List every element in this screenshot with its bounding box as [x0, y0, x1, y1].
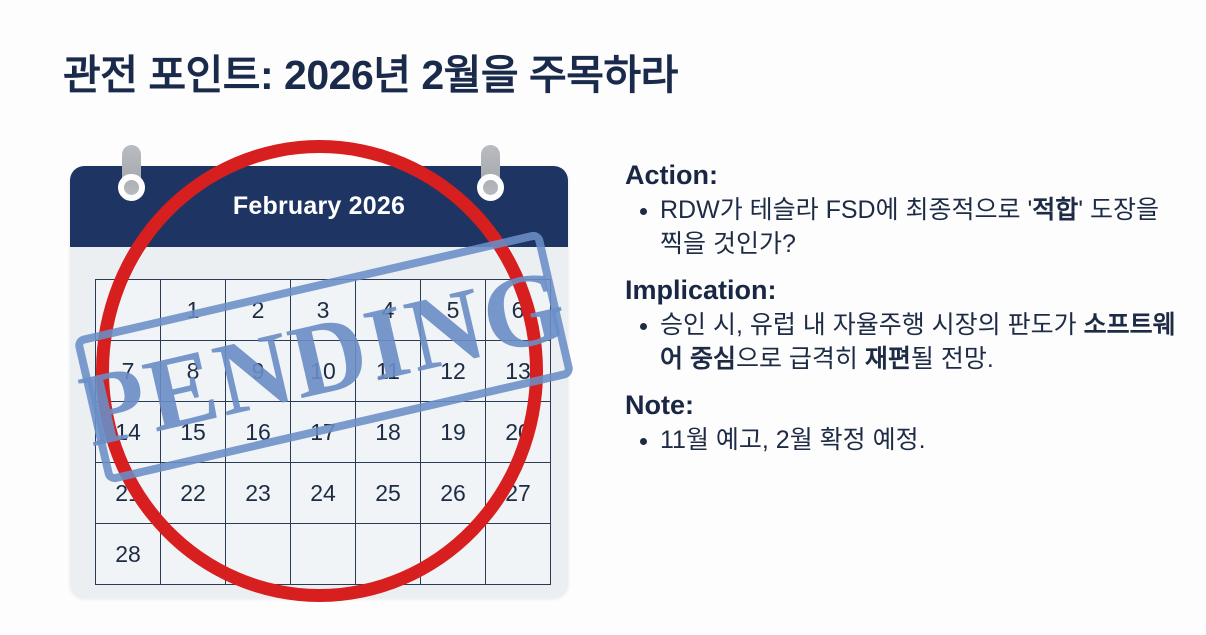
- calendar-day-cell[interactable]: 6: [486, 280, 551, 341]
- emphasised-text: 적합: [1032, 196, 1078, 224]
- calendar-day-cell[interactable]: 17: [291, 402, 356, 463]
- calendar-day-cell[interactable]: 18: [356, 402, 421, 463]
- calendar-empty-cell: [291, 524, 356, 585]
- calendar-day-cell[interactable]: 10: [291, 341, 356, 402]
- calendar-day-cell[interactable]: 2: [226, 280, 291, 341]
- calendar-day-cell[interactable]: 20: [486, 402, 551, 463]
- calendar-month-label: February 2026: [233, 192, 405, 221]
- calendar-day-cell[interactable]: 23: [226, 463, 291, 524]
- content-block-heading: Implication:: [625, 275, 1185, 306]
- content-bullet-item: 승인 시, 유럽 내 자율주행 시장의 판도가 소프트웨어 중심으로 급격히 재…: [658, 309, 1185, 376]
- content-block: Implication:승인 시, 유럽 내 자율주행 시장의 판도가 소프트웨…: [625, 275, 1185, 376]
- calendar-day-cell[interactable]: 11: [356, 341, 421, 402]
- calendar-day-cell[interactable]: 5: [421, 280, 486, 341]
- calendar-empty-cell: [421, 524, 486, 585]
- calendar-day-cell[interactable]: 26: [421, 463, 486, 524]
- binder-hole-right-icon: [477, 174, 504, 201]
- calendar-week-row: 28: [96, 524, 551, 585]
- content-block: Note:11월 예고, 2월 확정 예정.: [625, 390, 1185, 458]
- content-bullet-list: 11월 예고, 2월 확정 예정.: [625, 424, 1185, 458]
- calendar-week-row: 21222324252627: [96, 463, 551, 524]
- page-title: 관전 포인트: 2026년 2월을 주목하라: [63, 41, 678, 101]
- content-block-heading: Action:: [625, 160, 1185, 191]
- calendar-week-row: 123456: [96, 280, 551, 341]
- calendar-day-cell[interactable]: 14: [96, 402, 161, 463]
- bullet-text: 승인 시, 유럽 내 자율주행 시장의 판도가: [660, 311, 1084, 339]
- calendar-day-cell[interactable]: 13: [486, 341, 551, 402]
- calendar-empty-cell: [96, 280, 161, 341]
- calendar-empty-cell: [486, 524, 551, 585]
- bullet-text: 될 전망.: [911, 345, 994, 373]
- calendar-card: February 2026 12345678910111213141516171…: [70, 166, 568, 598]
- calendar-day-cell[interactable]: 4: [356, 280, 421, 341]
- content-column: Action:RDW가 테슬라 FSD에 최종적으로 '적합' 도장을 찍을 것…: [625, 160, 1185, 472]
- calendar-day-cell[interactable]: 19: [421, 402, 486, 463]
- calendar-empty-cell: [161, 524, 226, 585]
- calendar-day-cell[interactable]: 15: [161, 402, 226, 463]
- content-block-heading: Note:: [625, 390, 1185, 421]
- calendar-day-cell[interactable]: 21: [96, 463, 161, 524]
- content-bullet-list: RDW가 테슬라 FSD에 최종적으로 '적합' 도장을 찍을 것인가?: [625, 194, 1185, 261]
- calendar-day-cell[interactable]: 24: [291, 463, 356, 524]
- binder-hole-left-icon: [118, 174, 145, 201]
- calendar-graphic: February 2026 12345678910111213141516171…: [70, 152, 568, 598]
- calendar-day-cell[interactable]: 3: [291, 280, 356, 341]
- calendar-day-cell[interactable]: 9: [226, 341, 291, 402]
- bullet-text: 으로 급격히: [736, 345, 865, 373]
- calendar-week-row: 14151617181920: [96, 402, 551, 463]
- content-block: Action:RDW가 테슬라 FSD에 최종적으로 '적합' 도장을 찍을 것…: [625, 160, 1185, 261]
- calendar-day-cell[interactable]: 22: [161, 463, 226, 524]
- calendar-day-cell[interactable]: 27: [486, 463, 551, 524]
- bullet-text: RDW가 테슬라 FSD에 최종적으로 ': [660, 196, 1032, 224]
- calendar-day-cell[interactable]: 12: [421, 341, 486, 402]
- calendar-day-cell[interactable]: 16: [226, 402, 291, 463]
- content-bullet-list: 승인 시, 유럽 내 자율주행 시장의 판도가 소프트웨어 중심으로 급격히 재…: [625, 309, 1185, 376]
- bullet-text: 11월 예고, 2월 확정 예정.: [660, 426, 926, 454]
- content-bullet-item: 11월 예고, 2월 확정 예정.: [658, 424, 1185, 458]
- calendar-grid-body: 1234567891011121314151617181920212223242…: [96, 280, 551, 585]
- calendar-week-row: 78910111213: [96, 341, 551, 402]
- calendar-empty-cell: [356, 524, 421, 585]
- calendar-day-cell[interactable]: 25: [356, 463, 421, 524]
- calendar-day-cell[interactable]: 1: [161, 280, 226, 341]
- calendar-day-cell[interactable]: 7: [96, 341, 161, 402]
- emphasised-text: 재편: [865, 345, 911, 373]
- calendar-empty-cell: [226, 524, 291, 585]
- content-bullet-item: RDW가 테슬라 FSD에 최종적으로 '적합' 도장을 찍을 것인가?: [658, 194, 1185, 261]
- calendar-day-cell[interactable]: 8: [161, 341, 226, 402]
- calendar-date-grid: 1234567891011121314151617181920212223242…: [95, 279, 551, 585]
- calendar-day-cell[interactable]: 28: [96, 524, 161, 585]
